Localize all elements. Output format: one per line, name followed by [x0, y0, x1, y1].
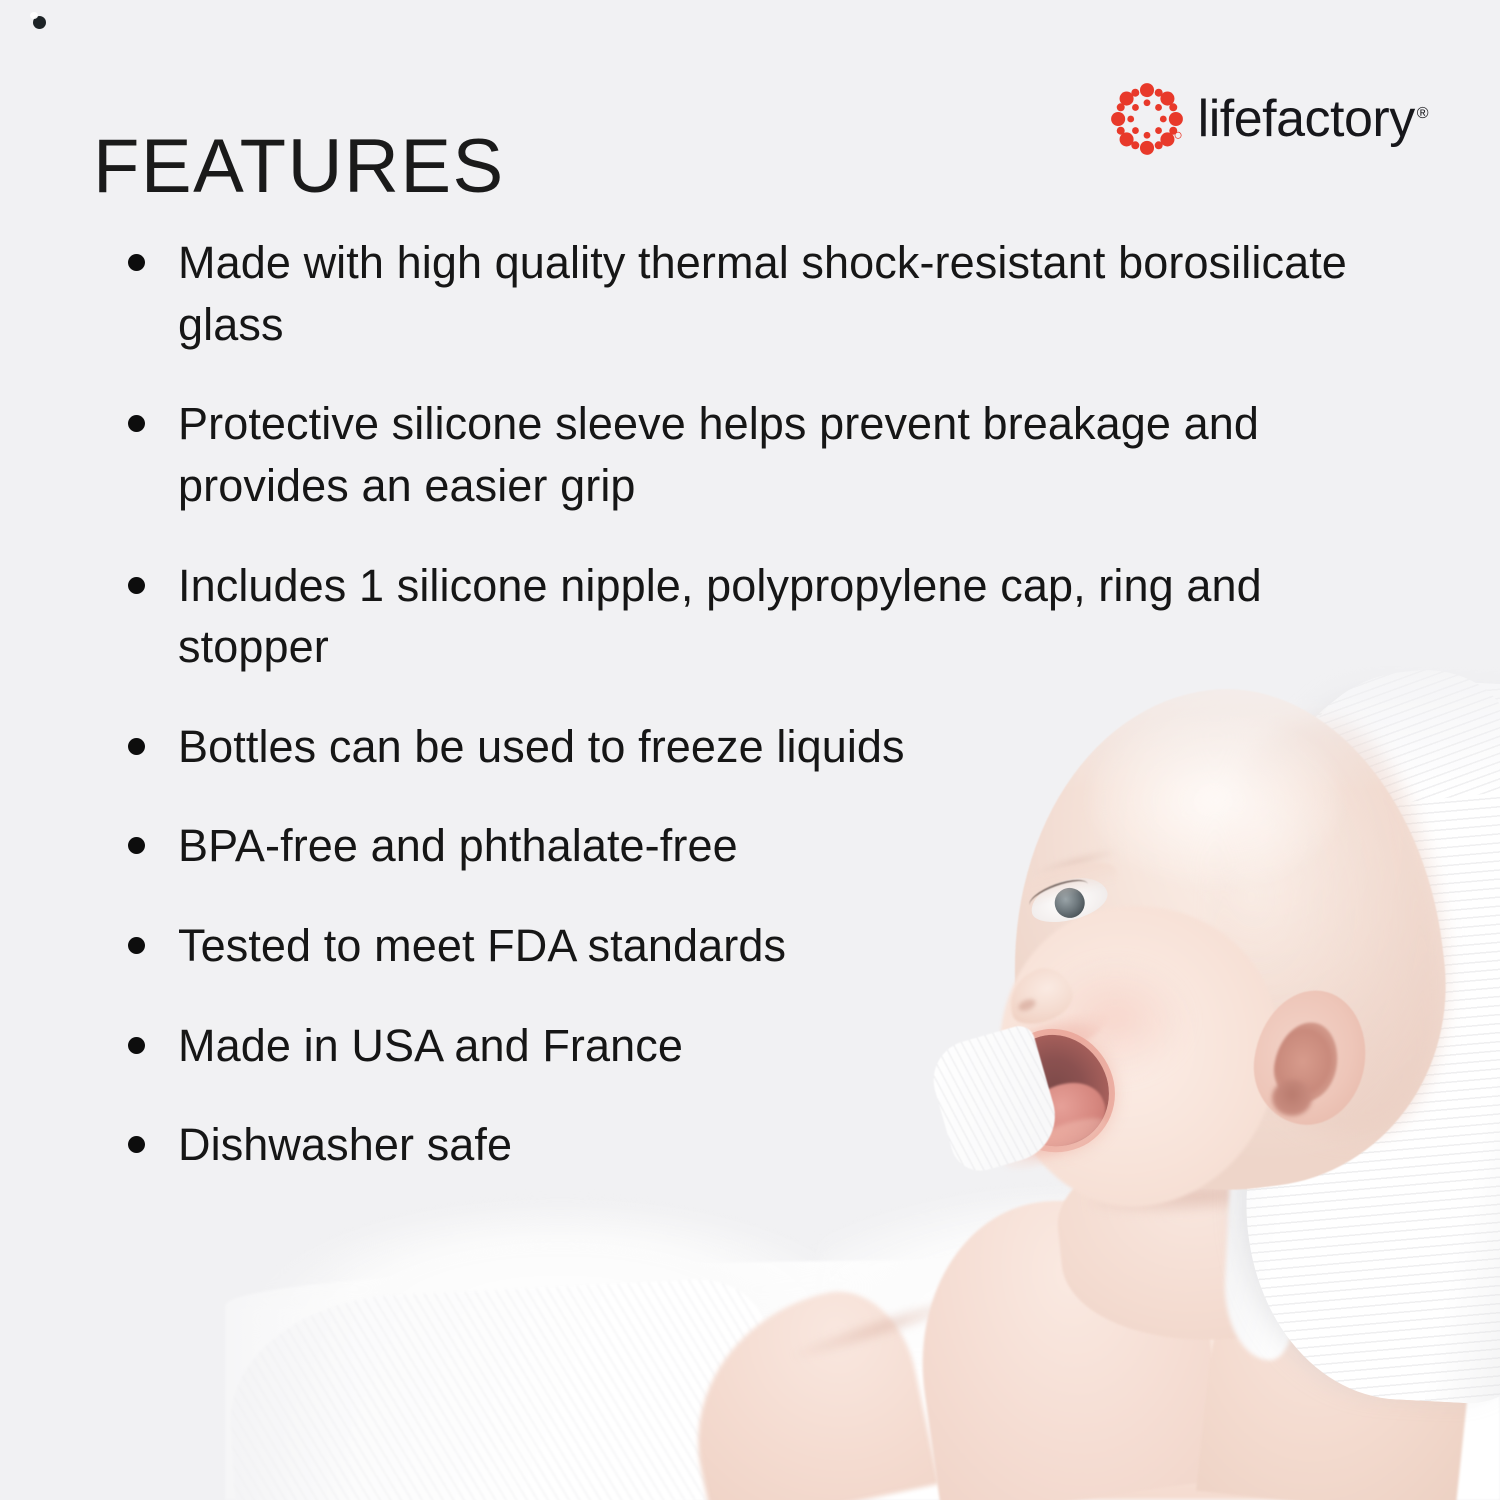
brand-name: lifefactory: [1198, 90, 1415, 148]
baby-eye-highlight: [30, 12, 38, 19]
baby-arm: [671, 1278, 940, 1500]
feature-item: Dishwasher safe: [0, 1114, 1420, 1176]
feature-text: Tested to meet FDA standards: [178, 915, 786, 977]
baby-shoulder-left: [901, 1181, 1230, 1500]
feature-item: Made in USA and France: [0, 1015, 1420, 1077]
baby-chest: [1020, 1300, 1350, 1500]
bullet-icon: [128, 837, 145, 854]
registered-mark: ®: [1417, 105, 1428, 122]
feature-text: Bottles can be used to freeze liquids: [178, 716, 905, 778]
page-title: FEATURES: [93, 129, 505, 205]
bullet-icon: [128, 254, 145, 271]
feature-item: Made with high quality thermal shock-res…: [0, 232, 1420, 355]
feature-list: Made with high quality thermal shock-res…: [0, 232, 1420, 1214]
feature-text: Made in USA and France: [178, 1015, 683, 1077]
feature-item: Protective silicone sleeve helps prevent…: [0, 393, 1420, 516]
brand-wordmark: lifefactory®: [1198, 93, 1428, 145]
feature-item: Includes 1 silicone nipple, polypropylen…: [0, 555, 1420, 678]
feature-item: Bottles can be used to freeze liquids: [0, 716, 1420, 778]
brand-logo: lifefactory®: [1110, 82, 1428, 156]
feature-text: BPA-free and phthalate-free: [178, 815, 738, 877]
bullet-icon: [128, 937, 145, 954]
bullet-icon: [128, 577, 145, 594]
blanket-fold: [250, 1200, 870, 1350]
baby-arm-crease: [791, 1291, 968, 1366]
bullet-icon: [128, 1136, 145, 1153]
baby-pupil: [33, 16, 46, 29]
feature-item: BPA-free and phthalate-free: [0, 815, 1420, 877]
blanket-fold: [820, 1190, 1500, 1360]
baby-shoulder-right: [1196, 1212, 1484, 1500]
lifefactory-dot-ring-logo-icon: [1110, 82, 1184, 156]
blanket: [225, 1260, 1500, 1500]
feature-text: Made with high quality thermal shock-res…: [178, 232, 1393, 355]
feature-text: Protective silicone sleeve helps prevent…: [178, 393, 1393, 516]
feature-text: Includes 1 silicone nipple, polypropylen…: [178, 555, 1393, 678]
feature-item: Tested to meet FDA standards: [0, 915, 1420, 977]
bullet-icon: [128, 415, 145, 432]
towel-lower-left: [225, 1276, 776, 1500]
features-page: FEATURES: [0, 0, 1500, 1500]
bullet-icon: [128, 738, 145, 755]
bullet-icon: [128, 1037, 145, 1054]
feature-text: Dishwasher safe: [178, 1114, 512, 1176]
